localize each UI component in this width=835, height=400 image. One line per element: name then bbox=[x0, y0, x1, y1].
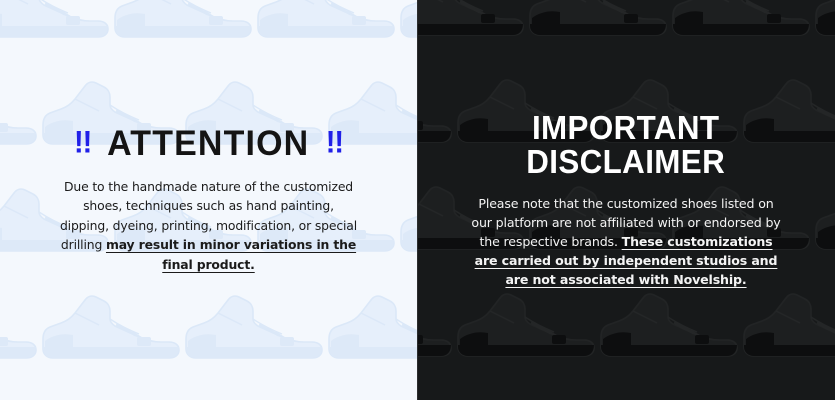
disclaimer-body: Please note that the customized shoes li… bbox=[467, 194, 785, 290]
disclaimer-heading-line2: DISCLAIMER bbox=[527, 145, 726, 179]
attention-body: Due to the handmade nature of the custom… bbox=[59, 177, 359, 275]
attention-content: !! ATTENTION !! Due to the handmade natu… bbox=[0, 0, 417, 400]
panel-divider bbox=[417, 0, 418, 400]
attention-body-emphasis: may result in minor variations in the fi… bbox=[106, 237, 356, 272]
exclamation-left-icon: !! bbox=[74, 127, 91, 158]
attention-heading: !! ATTENTION !! bbox=[74, 126, 343, 161]
disclaimer-content: IMPORTANT DISCLAIMER Please note that th… bbox=[417, 0, 835, 400]
disclaimer-heading: IMPORTANT DISCLAIMER bbox=[527, 111, 726, 179]
disclaimer-panel: IMPORTANT DISCLAIMER Please note that th… bbox=[417, 0, 835, 400]
exclamation-right-icon: !! bbox=[326, 127, 343, 158]
attention-panel: !! ATTENTION !! Due to the handmade natu… bbox=[0, 0, 417, 400]
disclaimer-heading-line1: IMPORTANT bbox=[527, 111, 726, 145]
attention-heading-text: ATTENTION bbox=[107, 126, 309, 161]
disclaimer-banner: !! ATTENTION !! Due to the handmade natu… bbox=[0, 0, 835, 400]
